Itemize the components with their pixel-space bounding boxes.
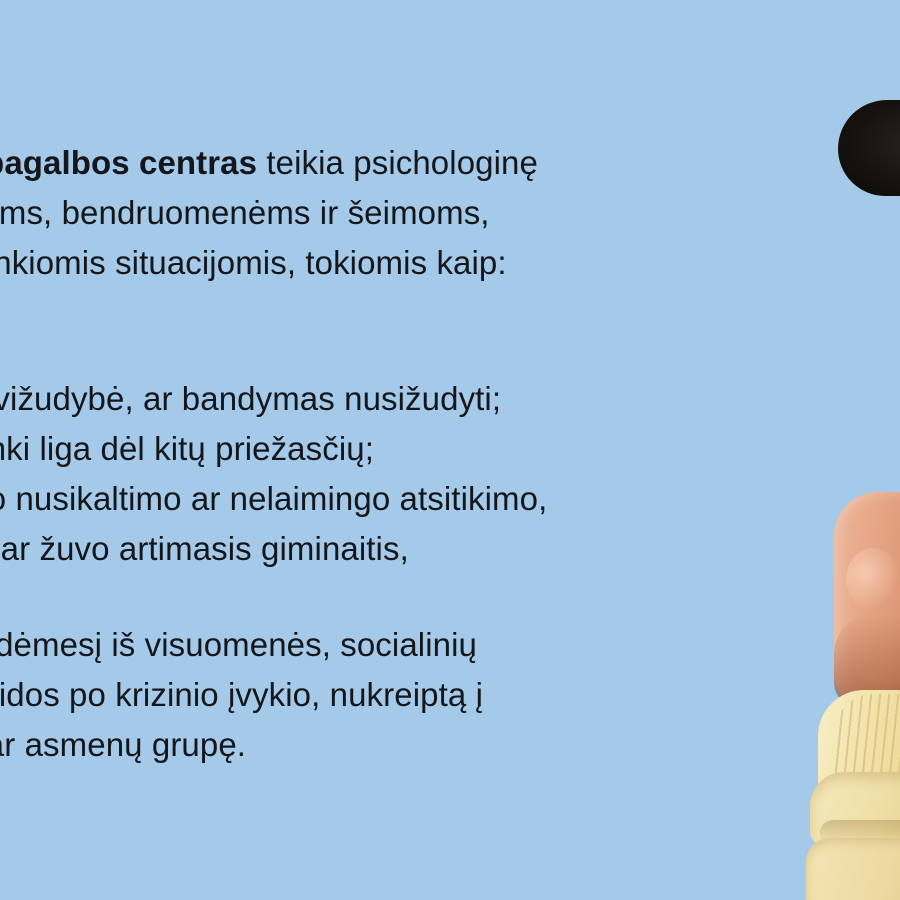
text-line-rest: nizacijoms, bendruomenėms ir šeimoms, [0, 194, 490, 231]
paragraph-situations: irtis, savižudybė, ar bandymas nusižudyt… [0, 374, 900, 574]
text-line: igiamą dėmesį iš visuomenės, socialinių [0, 620, 900, 670]
text-line-rest: teikia psichologinę [257, 144, 538, 181]
text-line-rest: s ar sunki liga dėl kitų priežasčių; [0, 430, 374, 467]
text-line-bold: krizių pagalbos centras [0, 144, 257, 181]
body-text: krizių pagalbos centras teikia psicholog… [0, 0, 900, 900]
text-line: s ar sunki liga dėl kitų priežasčių; [0, 424, 900, 474]
text-line-rest: žeistas ar žuvo artimasis giminaitis, [0, 530, 409, 567]
text-line-rest: smenį ar asmenų grupę. [0, 726, 246, 763]
paragraph-media-attention: igiamą dėmesį iš visuomenės, socialinių … [0, 620, 900, 770]
text-line: žeistas ar žuvo artimasis giminaitis, [0, 524, 900, 574]
text-line: murtinio nusikaltimo ar nelaimingo atsit… [0, 474, 900, 524]
text-line-rest: igiamą dėmesį iš visuomenės, socialinių [0, 626, 477, 663]
text-line: irtis, savižudybė, ar bandymas nusižudyt… [0, 374, 900, 424]
text-line-rest: irtis, savižudybė, ar bandymas nusižudyt… [0, 380, 501, 417]
text-line: krizių pagalbos centras teikia psicholog… [0, 138, 900, 188]
slide-canvas: krizių pagalbos centras teikia psicholog… [0, 0, 900, 900]
paragraph-intro: krizių pagalbos centras teikia psicholog… [0, 138, 900, 288]
text-line-rest: s su sunkiomis situacijomis, tokiomis ka… [0, 244, 507, 281]
text-line: smenį ar asmenų grupę. [0, 720, 900, 770]
text-line: nizacijoms, bendruomenėms ir šeimoms, [0, 188, 900, 238]
text-line: iniasklaidos po krizinio įvykio, nukreip… [0, 670, 900, 720]
text-line-rest: iniasklaidos po krizinio įvykio, nukreip… [0, 676, 483, 713]
text-line-rest: murtinio nusikaltimo ar nelaimingo atsit… [0, 480, 547, 517]
text-line: s su sunkiomis situacijomis, tokiomis ka… [0, 238, 900, 288]
